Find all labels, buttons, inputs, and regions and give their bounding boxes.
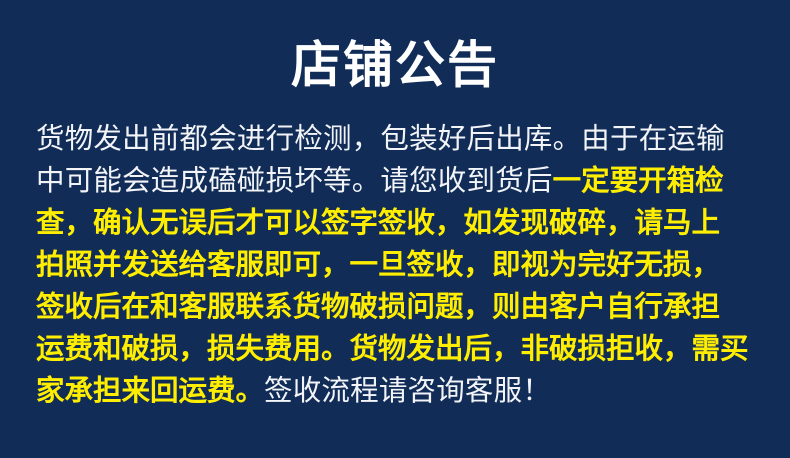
page-title: 店铺公告 xyxy=(0,34,790,96)
announcement-text: 货物发出前都会进行检测，包装好后出库。由于在运输 xyxy=(36,123,725,155)
announcement-highlight-text: 家承担来回运费。 xyxy=(36,375,264,407)
announcement-line: 签收后在和客服联系货物破损问题，则由客户自行承担 xyxy=(36,286,760,328)
announcement-highlight-text: 查，确认无误后才可以签字签收，如发现破碎，请马上 xyxy=(36,207,720,239)
store-announcement-banner: 店铺公告 货物发出前都会进行检测，包装好后出库。由于在运输中可能会造成磕碰损坏等… xyxy=(0,0,790,458)
announcement-text: 中可能会造成磕碰损坏等。请您收到货后 xyxy=(36,165,553,197)
announcement-highlight-text: 一定要开箱检 xyxy=(553,165,724,197)
announcement-highlight-text: 拍照并发送给客服即可，一旦签收，即视为完好无损， xyxy=(36,249,720,281)
announcement-body: 货物发出前都会进行检测，包装好后出库。由于在运输中可能会造成磕碰损坏等。请您收到… xyxy=(36,118,760,412)
announcement-line: 拍照并发送给客服即可，一旦签收，即视为完好无损， xyxy=(36,244,760,286)
announcement-text: 签收流程请咨询客服！ xyxy=(264,375,551,407)
announcement-highlight-text: 运费和破损，损失费用。货物发出后，非破损拒收，需买 xyxy=(36,333,749,365)
announcement-highlight-text: 签收后在和客服联系货物破损问题，则由客户自行承担 xyxy=(36,291,720,323)
announcement-line: 查，确认无误后才可以签字签收，如发现破碎，请马上 xyxy=(36,202,760,244)
announcement-line: 运费和破损，损失费用。货物发出后，非破损拒收，需买 xyxy=(36,328,760,370)
announcement-line: 中可能会造成磕碰损坏等。请您收到货后一定要开箱检 xyxy=(36,160,760,202)
announcement-line: 家承担来回运费。签收流程请咨询客服！ xyxy=(36,370,760,412)
announcement-line: 货物发出前都会进行检测，包装好后出库。由于在运输 xyxy=(36,118,760,160)
